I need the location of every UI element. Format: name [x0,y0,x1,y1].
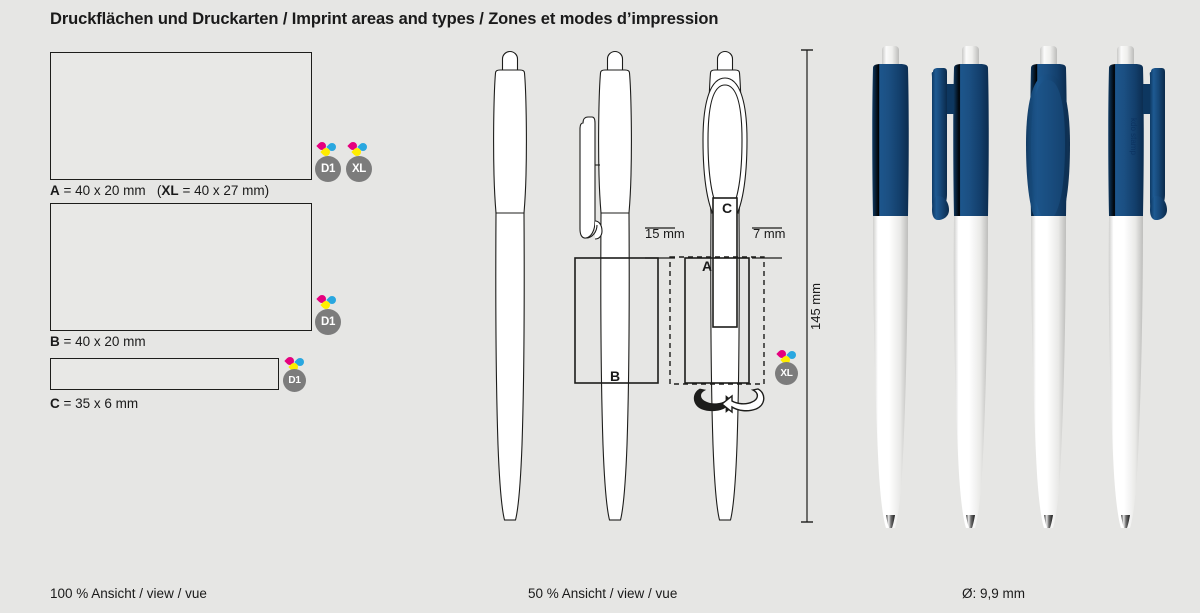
product-pen-3 [1026,46,1070,528]
pen-line-drawings [470,45,820,535]
imprint-label-a: A = 40 x 20 mm (XL = 40 x 27 mm) [50,183,269,198]
badge-label: D1 [315,309,341,335]
badge-label: XL [775,362,798,385]
dimension-145mm: 145 mm [808,283,823,330]
pen-back-view [703,52,747,521]
imprint-box-a [50,52,312,180]
badge-d1-area-a: D1 [313,142,343,180]
engraved-brand-text: kdo stamp [1129,118,1138,155]
product-pen-photos: kdo stamp [855,44,1175,534]
imprint-label-a-letter: A [50,183,60,198]
product-pen-4: kdo stamp [1108,46,1167,528]
marker-a: A [702,258,712,274]
imprint-label-c: C = 35 x 6 mm [50,396,138,411]
imprint-label-a-xl-letter: XL [161,183,178,198]
imprint-label-b-size: = 40 x 20 mm [60,334,146,349]
spec-sheet-canvas: Druckflächen und Druckarten / Imprint ar… [0,0,1200,613]
pen-side-view [580,52,631,521]
page-title: Druckflächen und Druckarten / Imprint ar… [50,10,718,29]
badge-label: XL [346,156,372,182]
product-pen-2 [932,46,989,528]
imprint-box-b [50,203,312,331]
badge-xl-technical: XL [774,350,800,383]
caption-left: 100 % Ansicht / view / vue [50,586,207,601]
imprint-label-a-xl-size: = 40 x 27 mm) [179,183,269,198]
badge-d1-area-c: D1 [282,357,308,390]
badge-xl-area-a: XL [344,142,374,180]
badge-label: D1 [283,369,306,392]
caption-right: Ø: 9,9 mm [962,586,1025,601]
dimension-15mm: 15 mm [645,226,685,241]
imprint-label-a-xl-open: ( [146,183,162,198]
imprint-label-a-size: = 40 x 20 mm [60,183,146,198]
imprint-box-c [50,358,279,390]
product-pen-1 [872,46,909,528]
marker-c: C [722,200,732,216]
badge-label: D1 [315,156,341,182]
imprint-label-b: B = 40 x 20 mm [50,334,146,349]
imprint-label-b-letter: B [50,334,60,349]
pen-front-view [494,52,527,521]
badge-d1-area-b: D1 [313,295,343,333]
dimension-7mm: 7 mm [753,226,786,241]
imprint-label-c-size: = 35 x 6 mm [60,396,138,411]
rotation-arrow-icon [690,383,768,417]
imprint-label-c-letter: C [50,396,60,411]
marker-b: B [610,368,620,384]
caption-center: 50 % Ansicht / view / vue [528,586,677,601]
